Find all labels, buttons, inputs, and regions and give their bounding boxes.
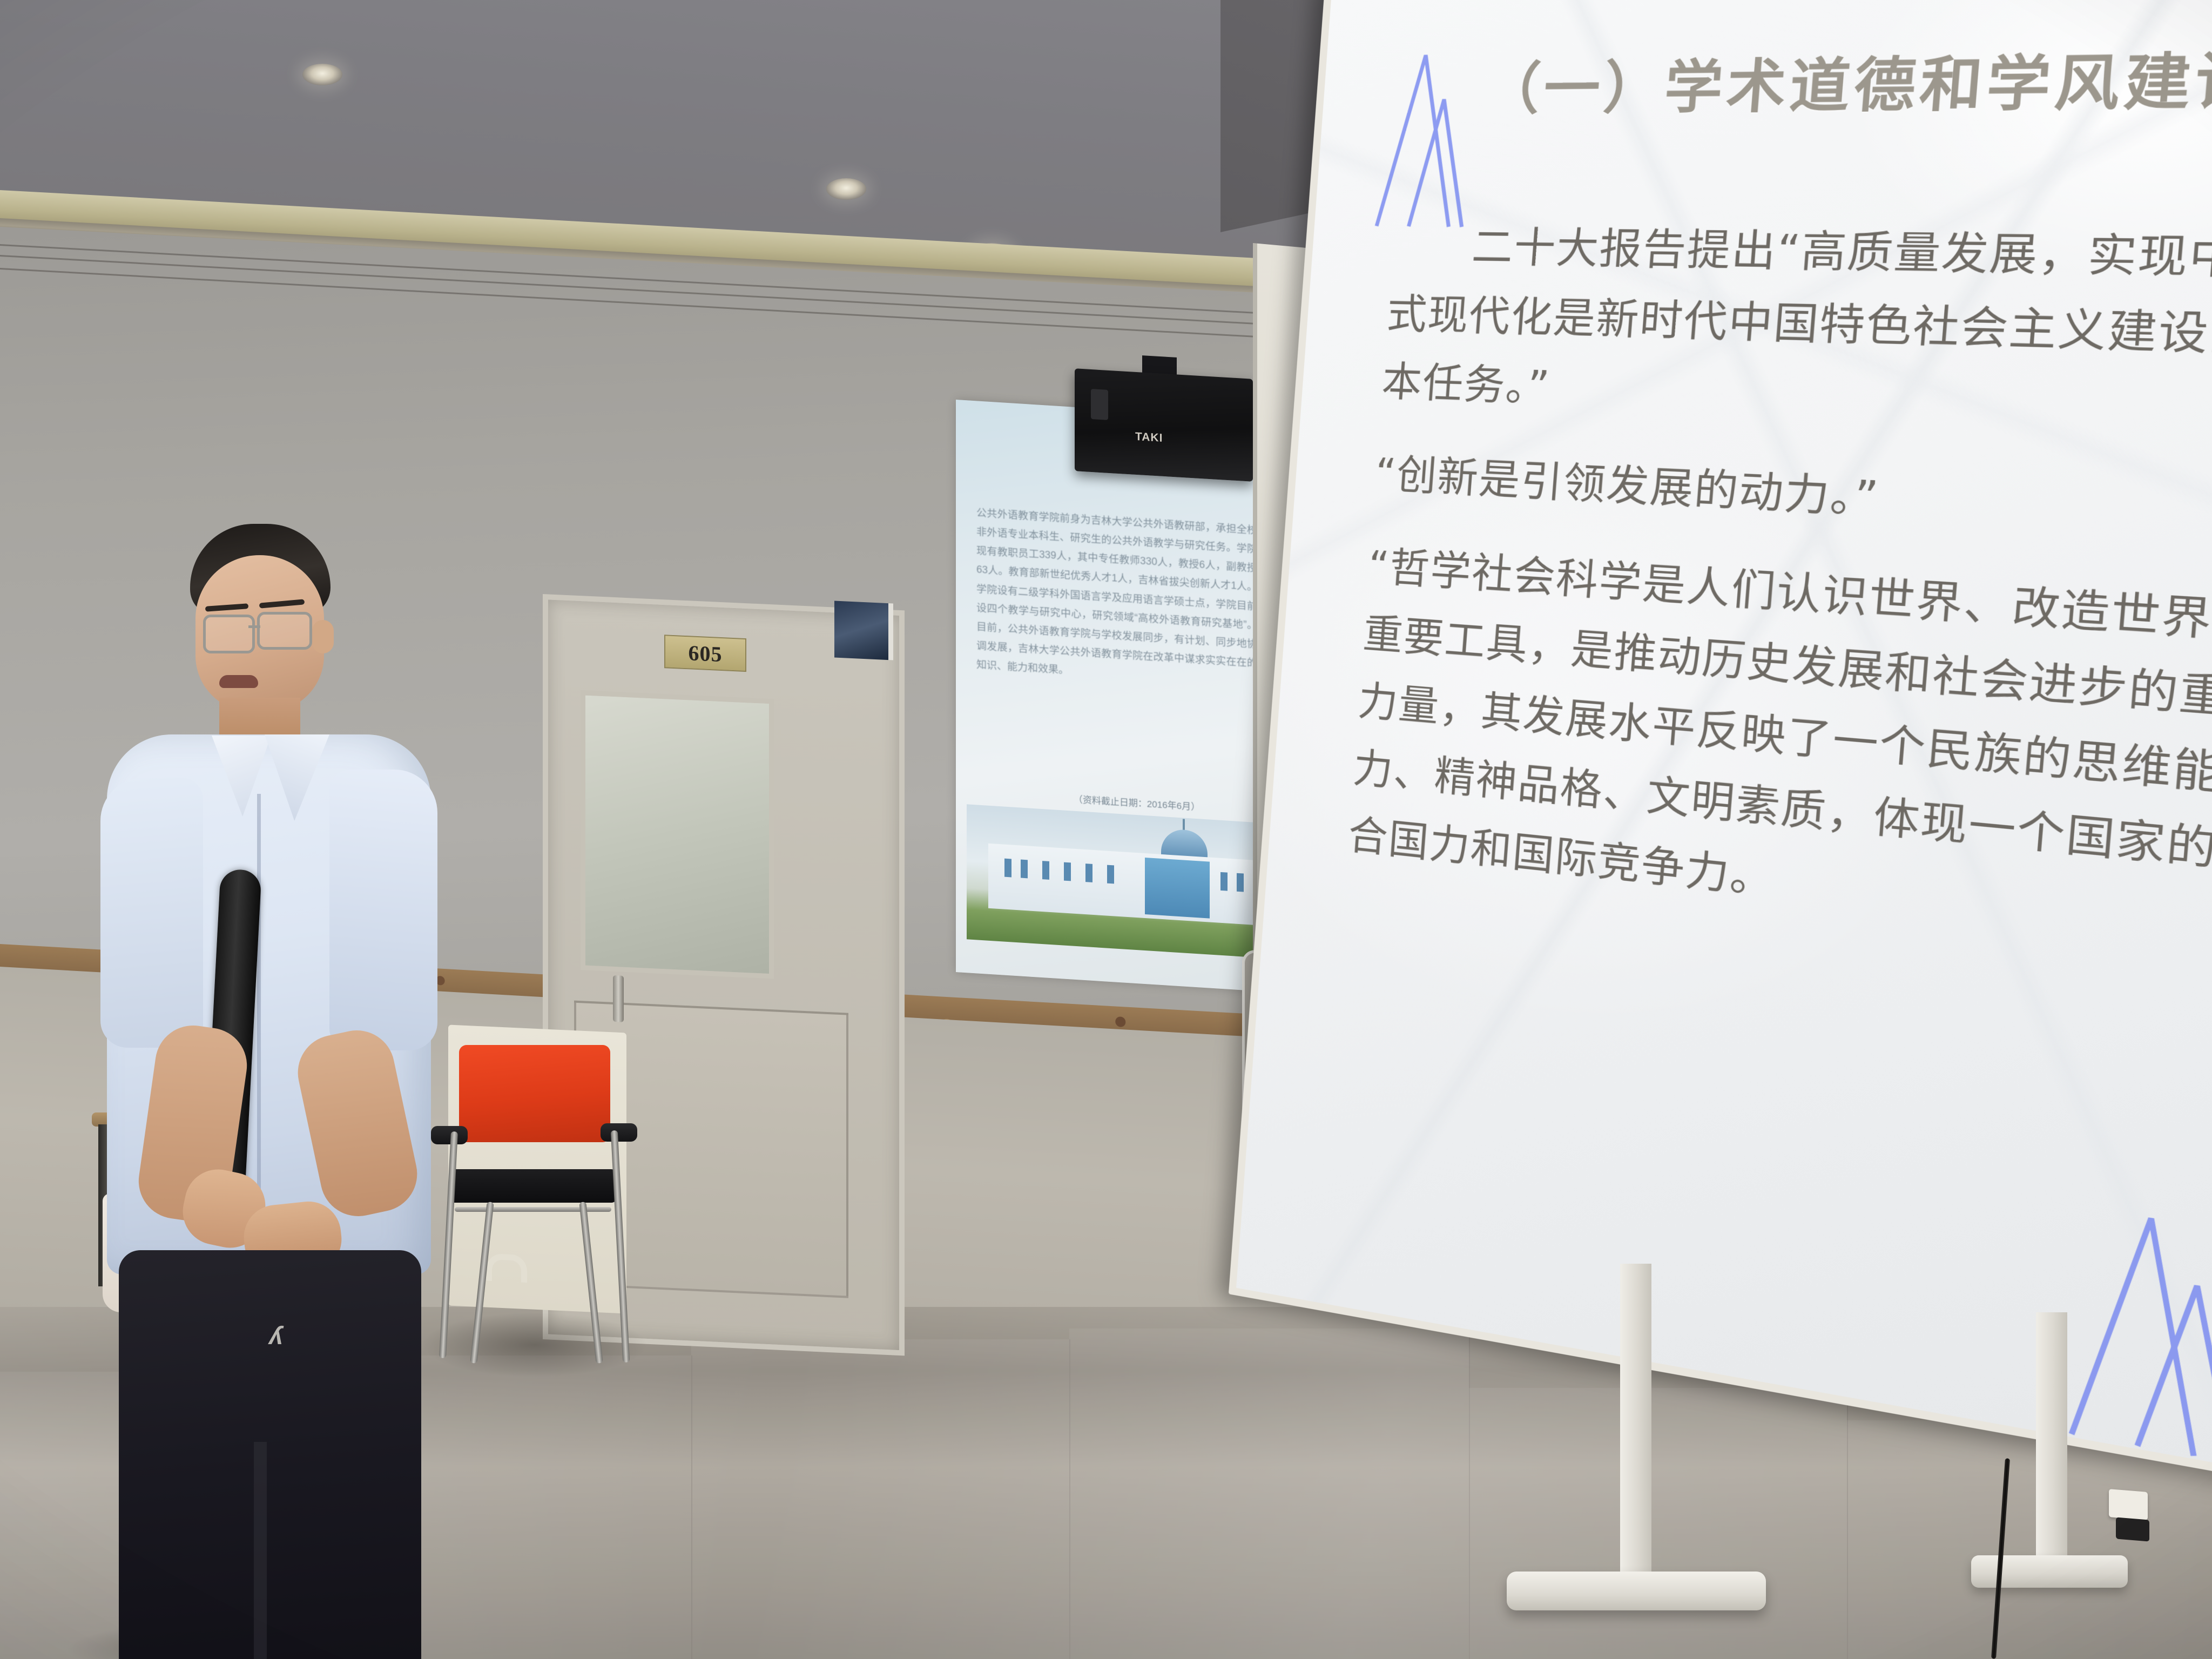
presenter-mouth	[219, 675, 258, 688]
mountain-motif-icon	[2058, 1195, 2212, 1468]
wall-poster: 公共外语教育学院前身为吉林大学公共外语教研部，承担全校非外语专业本科生、研究生的…	[956, 400, 1280, 993]
wall-sign-holder	[834, 601, 893, 660]
presenter-sleeve	[100, 778, 203, 1048]
glasses-icon	[257, 612, 312, 650]
presenter-pants	[119, 1250, 421, 1659]
chair-armrest	[601, 1123, 637, 1142]
chair-backrest	[459, 1045, 610, 1142]
glasses-bridge	[248, 625, 260, 628]
poster-campus-photo	[967, 804, 1269, 958]
chair-leg	[579, 1202, 603, 1364]
chair-rail	[455, 1207, 611, 1212]
slide-paragraph: “哲学社会科学是人们认识世界、改造世界的重要工具，是推动历史发展和社会进步的重要…	[1346, 533, 2212, 969]
screen-stand-post	[2036, 1312, 2067, 1566]
speaker-brand-label: TAKI	[1135, 430, 1163, 445]
wall-socket[interactable]	[2109, 1489, 2148, 1520]
door-glass-panel	[581, 690, 774, 979]
slide-surface: （一）学术道德和学风建设的意义和必要性 二十大报告提出“高质量发展，实现中国式现…	[1236, 0, 2212, 1477]
screen-stand-post	[1620, 1264, 1651, 1588]
poster-body-text: 公共外语教育学院前身为吉林大学公共外语教研部，承担全校非外语专业本科生、研究生的…	[976, 503, 1257, 692]
slide-body: 二十大报告提出“高质量发展，实现中国式现代化是新时代中国特色社会主义建设的根本任…	[1344, 212, 2212, 997]
wall-speaker: TAKI	[1075, 368, 1253, 482]
chair-leg	[470, 1202, 494, 1364]
room-number-plate: 605	[664, 635, 746, 672]
downlight-icon	[826, 178, 866, 200]
power-plug	[2116, 1518, 2149, 1542]
speaker-port	[1091, 389, 1108, 420]
slide-paragraph: 二十大报告提出“高质量发展，实现中国式现代化是新时代中国特色社会主义建设的根本任…	[1380, 212, 2212, 452]
chair[interactable]	[427, 1045, 643, 1380]
glasses-icon	[203, 615, 255, 653]
presenter-shirt-placket	[257, 794, 261, 1204]
chair-seat	[449, 1169, 617, 1203]
presenter-ear	[312, 620, 334, 653]
presenter-sleeve	[329, 770, 437, 1050]
slide-title: （一）学术道德和学风建设的意义和必要性	[1482, 29, 2212, 125]
screen-stand-foot	[1971, 1555, 2128, 1588]
mountain-motif-icon	[1367, 45, 1483, 230]
chair-leg	[611, 1130, 630, 1363]
presenter-pants-seam	[254, 1442, 267, 1659]
door-handle[interactable]	[613, 975, 624, 1022]
pants-logo-icon: ʎ	[269, 1322, 299, 1349]
screen-stand-foot	[1507, 1572, 1766, 1610]
lecture-room-scene: 605 公共外语教育学院前身为吉林大学公共外语教研部，承担全校非外语专业本科生、…	[0, 0, 2212, 1659]
screen-frame: Only-S （一）学术道德和学风建设的意义和必要性	[1229, 0, 2212, 1487]
downlight-icon	[302, 64, 342, 85]
presenter: ʎ	[97, 524, 443, 1659]
